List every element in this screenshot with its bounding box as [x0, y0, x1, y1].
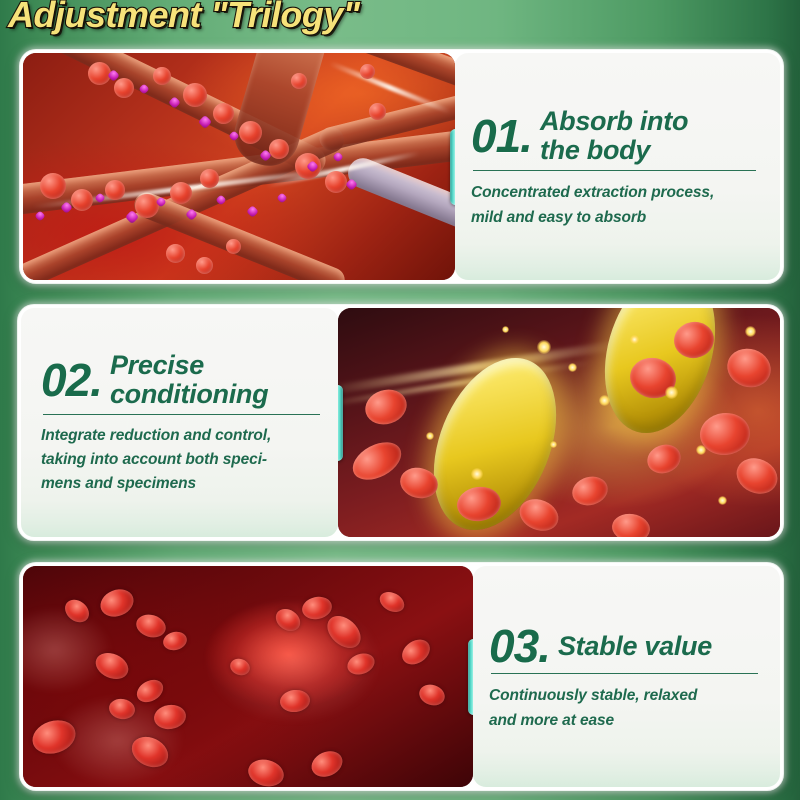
card-01-image: [23, 53, 455, 280]
card-01-divider: [473, 170, 756, 171]
card-01-headline: Absorb into the body: [540, 107, 760, 165]
feature-card-02: 02. Precise conditioning Integrate reduc…: [18, 305, 783, 540]
card-02-description-line-1: Integrate reduction and control,: [41, 424, 324, 448]
card-02-description-line-2: taking into account both speci-: [41, 448, 324, 472]
blood-flow-illustration: [23, 566, 473, 787]
page-title: Adjustment "Trilogy": [8, 0, 360, 36]
card-02-headline: Precise conditioning: [110, 351, 324, 409]
card-02-headline-line-1: Precise: [110, 351, 324, 380]
card-01-description-line-1: Concentrated extraction process,: [471, 180, 760, 205]
card-01-text-panel: 01. Absorb into the body Concentrated ex…: [455, 53, 780, 280]
card-02-image: [338, 308, 780, 537]
card-03-connector: [468, 639, 473, 715]
card-03-text-panel: 03. Stable value Continuously stable, re…: [473, 566, 780, 787]
card-03-description: Continuously stable, relaxed and more at…: [489, 683, 762, 733]
card-03-description-line-2: and more at ease: [489, 708, 762, 733]
card-03-number: 03.: [489, 624, 550, 669]
card-01-connector: [450, 129, 455, 205]
feature-card-03: 03. Stable value Continuously stable, re…: [20, 563, 783, 790]
card-01-headline-line-2: the body: [540, 136, 760, 165]
card-02-description: Integrate reduction and control, taking …: [41, 424, 324, 496]
card-03-headline: Stable value: [558, 632, 762, 661]
card-01-headline-line-1: Absorb into: [540, 107, 760, 136]
card-03-description-line-1: Continuously stable, relaxed: [489, 683, 762, 708]
card-02-text-panel: 02. Precise conditioning Integrate reduc…: [21, 308, 338, 537]
card-03-headline-line-1: Stable value: [558, 632, 762, 661]
card-01-description: Concentrated extraction process, mild an…: [471, 180, 760, 230]
card-02-number: 02.: [41, 358, 102, 403]
golden-capsule-illustration: [338, 308, 780, 537]
card-01-number: 01.: [471, 114, 532, 159]
card-03-divider: [491, 673, 758, 674]
card-03-image: [23, 566, 473, 787]
card-02-headline-line-2: conditioning: [110, 380, 324, 409]
feature-card-01: 01. Absorb into the body Concentrated ex…: [20, 50, 783, 283]
card-01-description-line-2: mild and easy to absorb: [471, 205, 760, 230]
card-02-connector: [338, 385, 343, 461]
card-02-description-line-3: mens and specimens: [41, 472, 324, 496]
blood-vessel-illustration: [23, 53, 455, 280]
card-02-divider: [43, 414, 320, 415]
